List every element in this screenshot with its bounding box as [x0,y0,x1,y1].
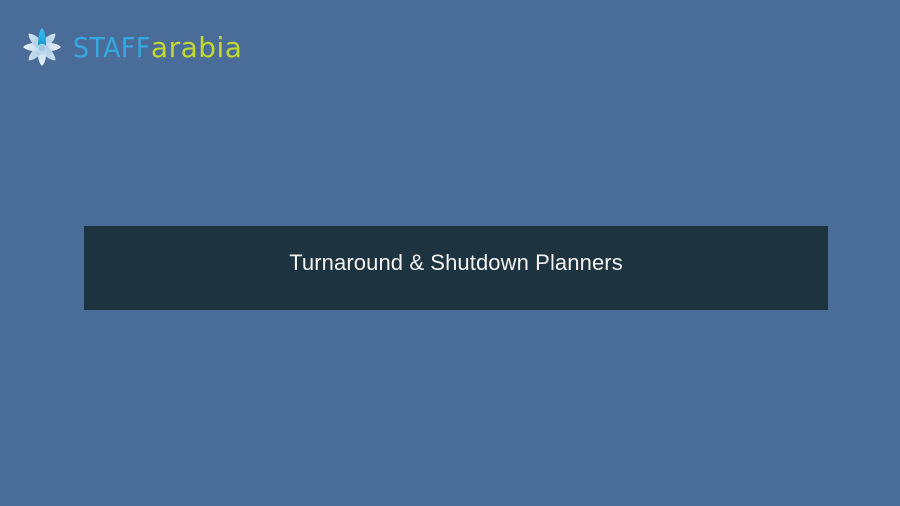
brand-wordmark-arabia: arabia [151,34,243,62]
title-band: Turnaround & Shutdown Planners [84,226,828,310]
brand-logo-lockup[interactable]: STAFFarabia [20,24,270,70]
brand-wordmark-staff: STAFF [73,34,151,62]
slide-title: Turnaround & Shutdown Planners [289,250,623,276]
slide-canvas: STAFFarabia Turnaround & Shutdown Planne… [0,0,900,506]
brand-wordmark: STAFFarabia [73,34,242,62]
snowflake-icon [20,25,64,69]
